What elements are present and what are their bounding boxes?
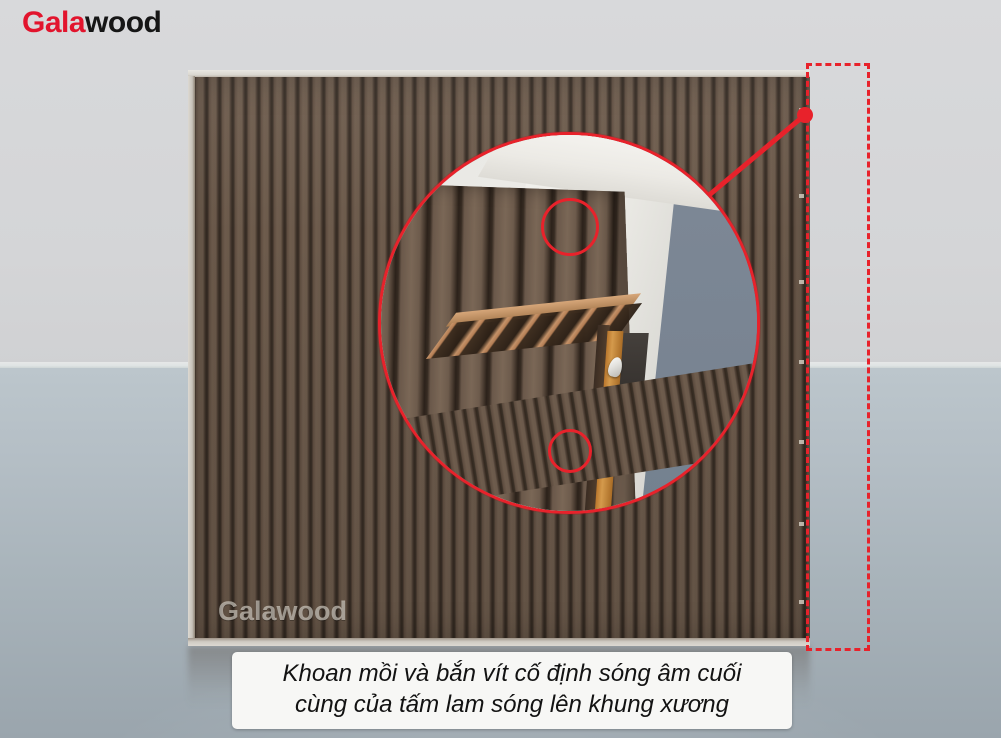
panel-left-edge-cap	[188, 76, 195, 646]
callout-leader-line	[700, 110, 812, 198]
caption-text: Khoan mồi và bắn vít cố định sóng âm cuố…	[242, 659, 782, 720]
panel-edge-screw-tick	[799, 600, 804, 604]
highlight-region-dashed-box	[806, 63, 870, 651]
logo-text-wood: wood	[85, 6, 161, 39]
instructional-image-scene: Galawood Galawood	[0, 0, 1001, 738]
panel-edge-screw-tick	[799, 440, 804, 444]
callout-anchor-dot	[797, 107, 813, 123]
screw-highlight-bottom-ring	[548, 429, 592, 473]
panel-edge-screw-tick	[799, 280, 804, 284]
panel-edge-screw-tick	[799, 522, 804, 526]
screw-highlight-top-ring	[541, 198, 599, 256]
panel-watermark: Galawood	[218, 596, 347, 627]
panel-edge-screw-tick	[799, 360, 804, 364]
logo-text-gala: Gala	[22, 6, 85, 39]
galawood-logo: Galawood	[22, 8, 161, 38]
caption-box: Khoan mồi và bắn vít cố định sóng âm cuố…	[232, 652, 792, 729]
panel-bottom-cap	[188, 638, 810, 646]
